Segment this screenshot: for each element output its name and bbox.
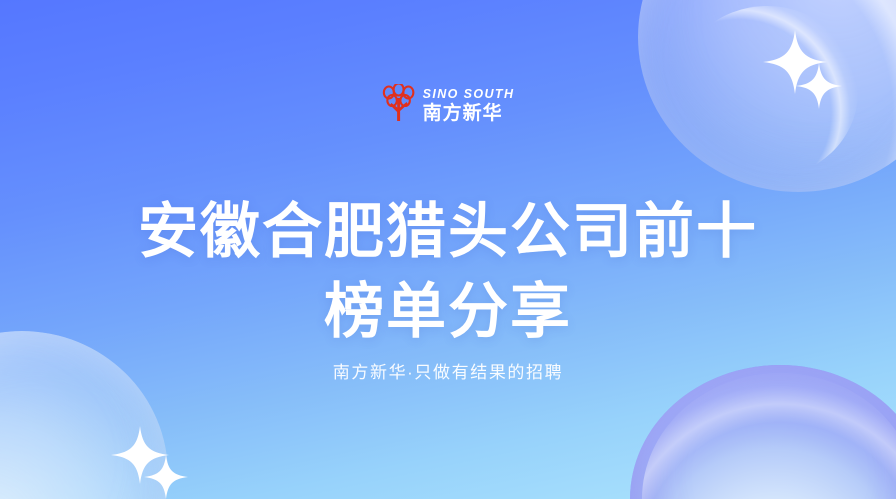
brand-name-english: SINO SOUTH: [423, 88, 515, 101]
bubble-bottom-right: [630, 365, 896, 499]
sparkle-bottom-left-large-icon: [111, 426, 169, 484]
sino-south-tree-icon: [382, 84, 416, 127]
sparkle-top-right-large-icon: [763, 30, 827, 94]
bubble-bottom-right-highlight: [642, 373, 896, 499]
bubble-top-right-highlight: [676, 6, 858, 178]
bubble-top-right: [638, 0, 896, 192]
brand-wordmark: SINO SOUTH 南方新华: [423, 88, 515, 123]
page-title-line-1: 安徽合肥猎头公司前十: [0, 192, 896, 272]
page-title-line-2: 榜单分享: [0, 272, 896, 352]
bubble-bottom-left: [0, 331, 168, 499]
brand-logo: SINO SOUTH 南方新华: [382, 84, 515, 127]
page-title: 安徽合肥猎头公司前十 榜单分享: [0, 192, 896, 352]
sparkle-bottom-left-small-icon: [144, 455, 188, 499]
page-subtitle: 南方新华·只做有结果的招聘: [0, 358, 896, 383]
sparkle-top-right-small-icon: [796, 63, 842, 109]
brand-name-chinese: 南方新华: [423, 104, 515, 123]
poster-canvas: SINO SOUTH 南方新华 安徽合肥猎头公司前十 榜单分享 南方新华·只做有…: [0, 0, 896, 499]
